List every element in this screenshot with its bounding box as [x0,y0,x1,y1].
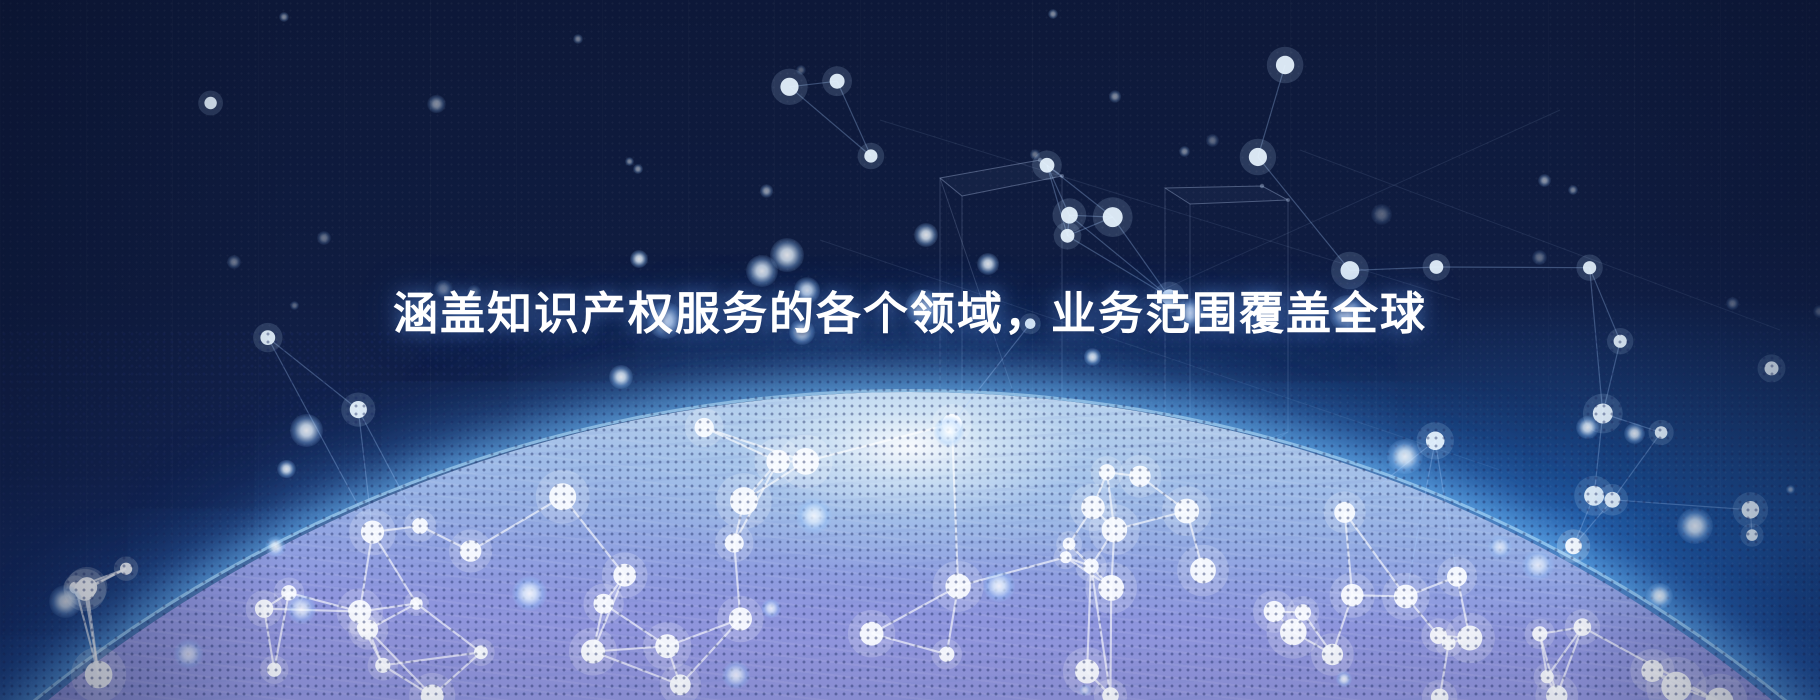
network-link [268,338,373,532]
network-node [412,518,428,534]
page-title: 涵盖知识产权服务的各个领域，业务范围覆盖全球 [0,286,1820,342]
network-node [375,658,390,673]
hero-banner: 涵盖知识产权服务的各个领域，业务范围覆盖全球 [0,0,1820,700]
network-node [1742,501,1760,519]
network-node [1655,426,1668,439]
network-node [1746,529,1758,541]
network-node [670,674,691,695]
network-node [1565,538,1582,555]
network-node [1061,229,1075,243]
network-node [864,149,877,162]
network-node [655,634,679,658]
network-node [780,78,798,96]
network-link [1435,441,1457,577]
network-node [945,574,970,599]
network-node [1426,432,1445,451]
network-node [348,600,371,623]
network-node [860,622,884,646]
network-node [1098,575,1124,601]
network-node [830,74,845,89]
network-node [1532,626,1547,641]
network-node [1574,618,1592,636]
network-node [255,600,273,618]
network-link [1612,500,1750,510]
network-node [1060,551,1072,563]
network-node [730,487,758,515]
network-link [358,410,420,526]
network-node [1061,207,1078,224]
network-node [1295,604,1311,620]
network-node [410,597,423,610]
network-node [1174,499,1199,524]
network-node [725,533,744,552]
network-node [1394,585,1418,609]
network-node [350,401,367,418]
network-node [1430,260,1444,274]
network-node [594,594,614,614]
network-node [1605,492,1621,508]
network-link [268,338,359,410]
network-node [729,607,752,630]
network-node [460,540,482,562]
network-node [1075,659,1099,683]
network-node [474,645,488,659]
network-link [1436,267,1589,268]
network-link [1258,157,1350,271]
network-node [361,521,384,544]
network-node [1765,361,1779,375]
network-node [267,663,281,677]
network-node [1593,404,1613,424]
network-node [1040,158,1055,173]
network-node [1129,466,1150,487]
network-node [1341,584,1364,607]
network-node [1276,56,1294,74]
network-node [1341,261,1360,280]
network-node [1322,644,1343,665]
network-node [281,585,296,600]
network-node [1264,601,1285,622]
network-node [1103,207,1123,227]
network-node [549,483,576,510]
network-node [69,582,81,594]
network-node [1442,636,1456,650]
network-node [204,97,216,109]
network-node [1102,517,1128,543]
network-node [1583,261,1596,274]
network-node [792,448,819,475]
network-node [1190,558,1216,584]
network-node [120,563,132,575]
network-node [1447,567,1467,587]
network-node [1083,558,1099,574]
network-node [942,414,962,434]
network-node [695,418,714,437]
network-mesh [0,0,1820,700]
network-node [939,647,954,662]
network-node [1249,148,1267,166]
network-node [581,640,605,664]
network-node [1099,464,1115,480]
network-node [613,564,636,587]
network-node [85,661,113,689]
network-node [1334,502,1355,523]
